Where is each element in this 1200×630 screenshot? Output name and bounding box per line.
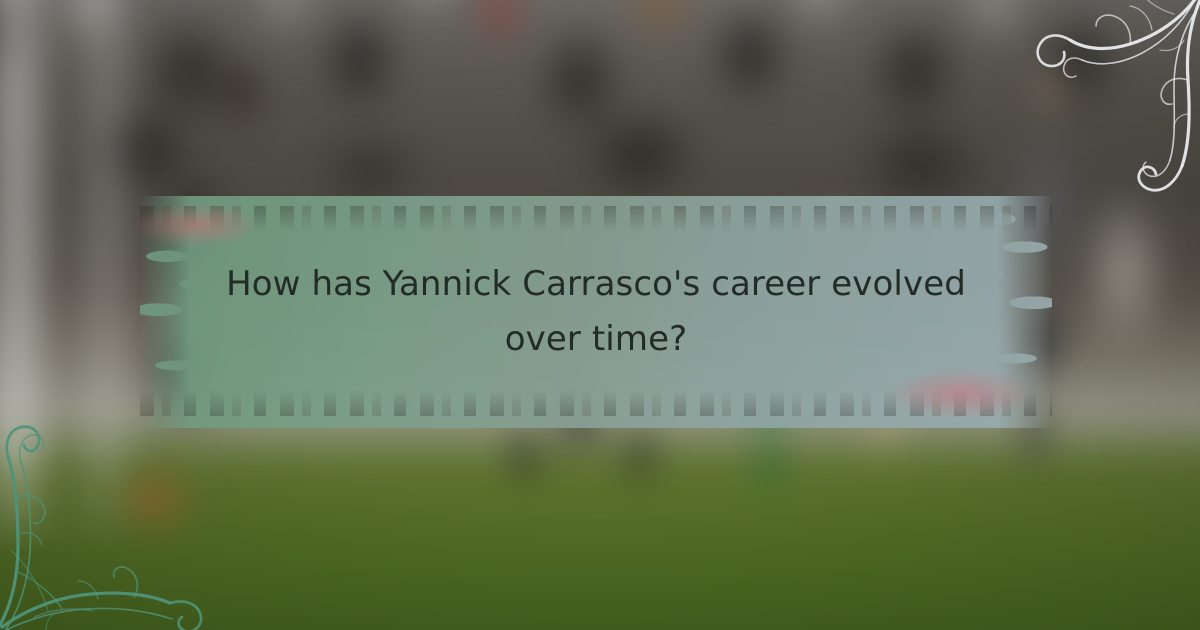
question-banner: How has Yannick Carrasco's career evolve… [140,196,1052,428]
question-line-2: over time? [505,312,688,367]
question-line-1: How has Yannick Carrasco's career evolve… [226,257,966,312]
question-card: How has Yannick Carrasco's career evolve… [0,0,1200,630]
question-text: How has Yannick Carrasco's career evolve… [140,196,1052,428]
